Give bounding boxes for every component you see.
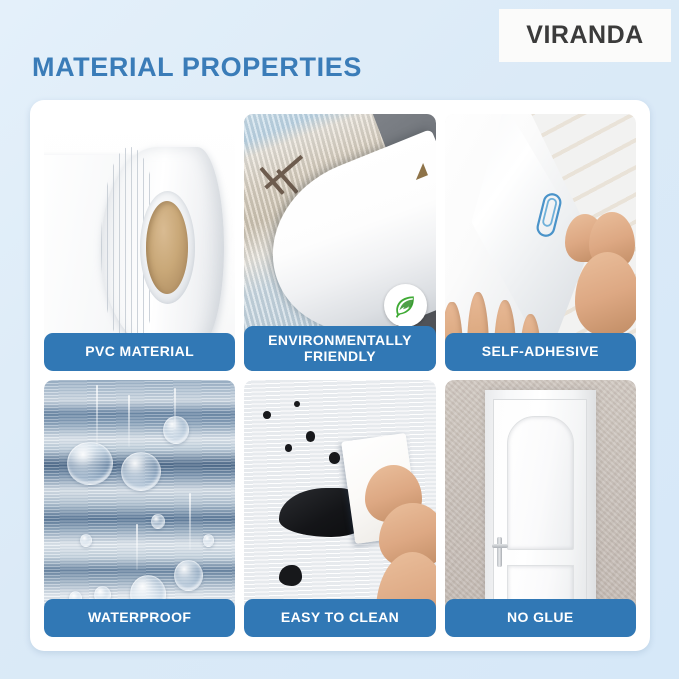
features-card: PVC MATERIAL ENVIRON xyxy=(30,100,650,651)
eco-badge xyxy=(384,284,427,327)
feature-label-environmentally-friendly: ENVIRONMENTALLY FRIENDLY xyxy=(244,326,435,371)
brand-name: VIRANDA xyxy=(526,21,643,50)
feature-cell-pvc-material[interactable]: PVC MATERIAL xyxy=(44,114,235,371)
feature-label-self-adhesive: SELF-ADHESIVE xyxy=(445,333,636,371)
features-grid: PVC MATERIAL ENVIRON xyxy=(44,114,636,637)
right-hand xyxy=(559,212,636,346)
feature-cell-waterproof[interactable]: WATERPROOF xyxy=(44,380,235,637)
feature-cell-easy-to-clean[interactable]: EASY TO CLEAN xyxy=(244,380,435,637)
door-lever-icon xyxy=(492,544,508,548)
feature-label-pvc-material: PVC MATERIAL xyxy=(44,333,235,371)
door-handle-icon xyxy=(497,537,502,567)
feature-label-easy-to-clean: EASY TO CLEAN xyxy=(244,599,435,637)
feature-label-no-glue: NO GLUE xyxy=(445,599,636,637)
feature-cell-environmentally-friendly[interactable]: ENVIRONMENTALLY FRIENDLY xyxy=(244,114,435,371)
brand-logo-box: VIRANDA xyxy=(499,9,671,62)
page-title: MATERIAL PROPERTIES xyxy=(32,52,362,83)
feature-label-waterproof: WATERPROOF xyxy=(44,599,235,637)
feature-cell-self-adhesive[interactable]: SELF-ADHESIVE xyxy=(445,114,636,371)
feature-cell-no-glue[interactable]: NO GLUE xyxy=(445,380,636,637)
leaf-icon xyxy=(391,292,419,320)
